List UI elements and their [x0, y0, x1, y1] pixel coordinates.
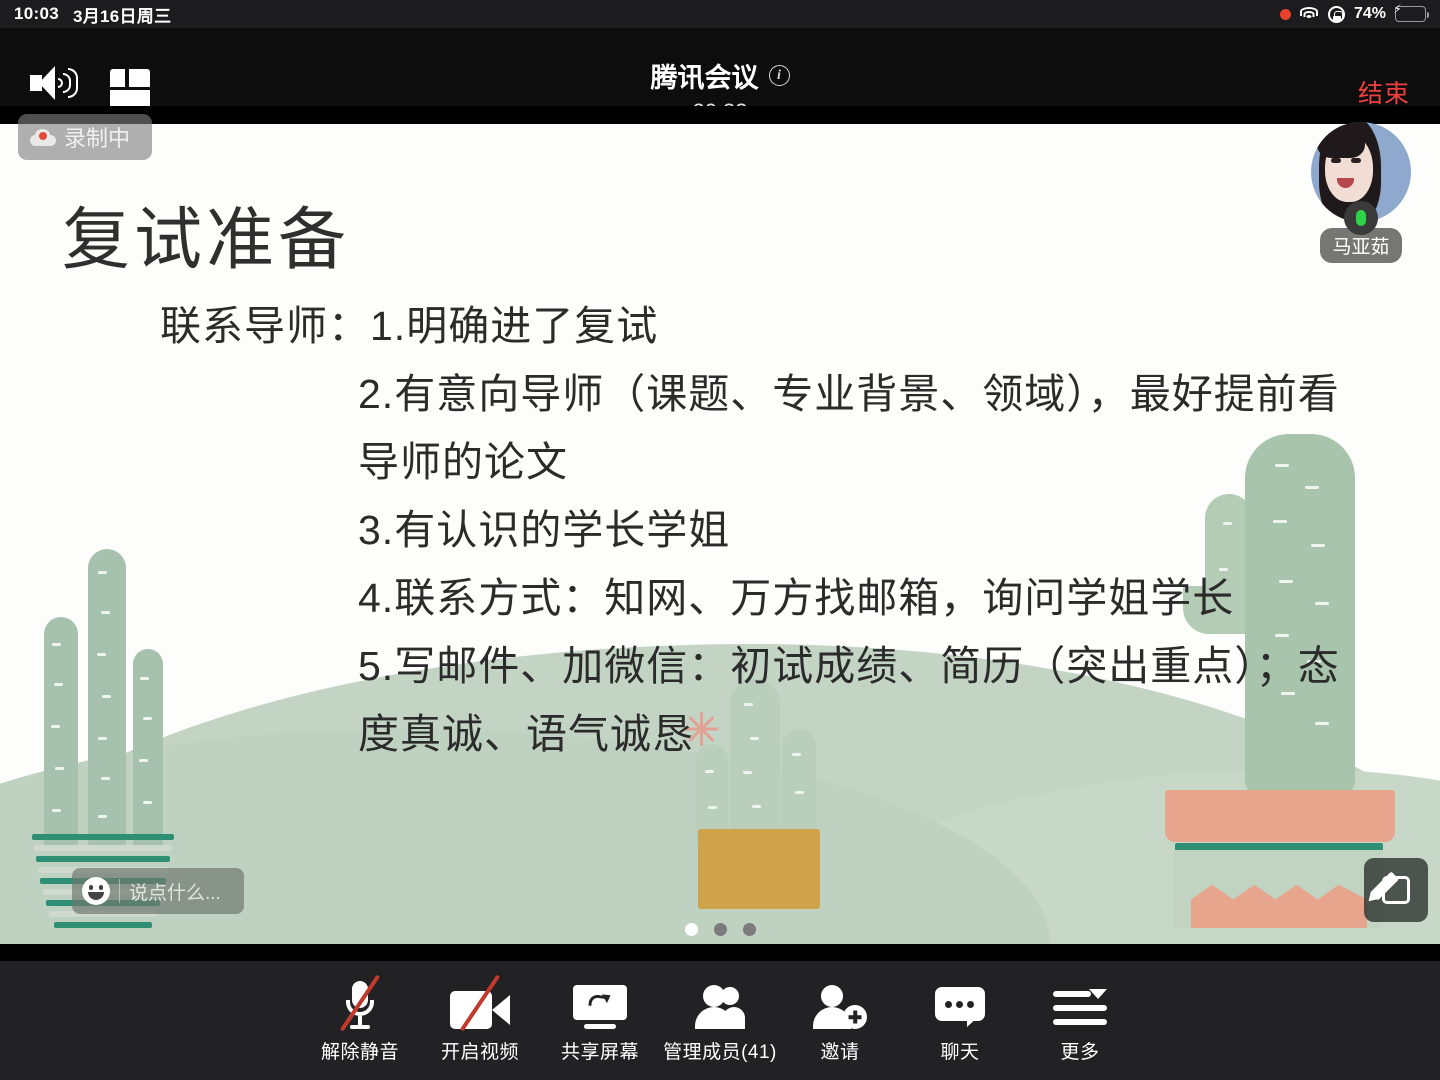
- slide-line: 度真诚、语气诚恳: [160, 700, 1340, 768]
- page-dot[interactable]: [743, 923, 756, 936]
- battery-percent: 74%: [1354, 5, 1386, 23]
- invite-icon: [780, 977, 900, 1029]
- toolbar-item-start-video[interactable]: 开启视频: [420, 977, 540, 1064]
- toolbar-label: 解除静音: [300, 1037, 420, 1064]
- camera-off-icon: [420, 977, 540, 1029]
- recording-badge: 录制中: [18, 114, 152, 160]
- share-screen-icon: [540, 977, 660, 1029]
- emoji-icon[interactable]: [82, 877, 110, 905]
- chat-icon: [900, 977, 1020, 1029]
- chat-input-placeholder[interactable]: 说点什么...: [129, 878, 221, 905]
- recording-dot-icon: [1280, 9, 1291, 20]
- meeting-screen: 10:03 3月16日周三 74% ⚡ 腾讯会议 i: [0, 0, 1440, 1080]
- meeting-title-row: 腾讯会议 i: [651, 56, 790, 95]
- status-bar: 10:03 3月16日周三 74% ⚡: [0, 0, 1440, 28]
- page-dots[interactable]: [0, 923, 1440, 936]
- toolbar-item-chat[interactable]: 聊天: [900, 977, 1020, 1064]
- wifi-icon: [1300, 7, 1319, 22]
- meeting-header: 腾讯会议 i 20:33 结束: [0, 28, 1440, 106]
- toolbar-label: 开启视频: [420, 1037, 540, 1064]
- toolbar-label: 邀请: [780, 1037, 900, 1064]
- slide-title: 复试准备: [62, 184, 350, 283]
- info-icon[interactable]: i: [769, 65, 790, 86]
- divider: [119, 879, 120, 903]
- slide-line: 4.联系方式：知网、万方找邮箱，询问学姐学长: [160, 564, 1340, 632]
- toolbar-label: 管理成员(41): [660, 1037, 780, 1064]
- toolbar-item-share-screen[interactable]: 共享屏幕: [540, 977, 660, 1064]
- status-time: 10:03: [14, 4, 59, 24]
- pot-right: [1165, 790, 1395, 842]
- page-dot[interactable]: [685, 923, 698, 936]
- cloud-record-icon: [30, 129, 56, 146]
- slide-line: 联系导师：1.明确进了复试: [160, 292, 1340, 360]
- shared-slide: 复试准备 联系导师：1.明确进了复试 2.有意向导师（课题、专业背景、领域），最…: [0, 124, 1440, 944]
- microphone-muted-icon: [300, 977, 420, 1029]
- rotation-lock-icon: [1328, 6, 1345, 23]
- toolbar-item-participants[interactable]: 管理成员(41): [660, 977, 780, 1064]
- status-bar-right: 74% ⚡: [1280, 5, 1426, 23]
- page-dot[interactable]: [714, 923, 727, 936]
- page-title: 腾讯会议: [651, 56, 759, 95]
- microphone-on-icon: [1344, 201, 1378, 235]
- slide-line: 2.有意向导师（课题、专业背景、领域），最好提前看: [160, 360, 1340, 428]
- toolbar-item-invite[interactable]: 邀请: [780, 977, 900, 1064]
- toolbar-item-more[interactable]: 更多: [1020, 977, 1140, 1064]
- slide-line: 3.有认识的学长学姐: [160, 496, 1340, 564]
- slide-line: 5.写邮件、加微信：初试成绩、简历（突出重点）；态: [160, 632, 1340, 700]
- toolbar-label: 共享屏幕: [540, 1037, 660, 1064]
- status-date: 3月16日周三: [73, 2, 171, 27]
- recording-label: 录制中: [64, 121, 130, 153]
- shared-screen-stage[interactable]: 复试准备 联系导师：1.明确进了复试 2.有意向导师（课题、专业背景、领域），最…: [0, 106, 1440, 961]
- toolbar-item-unmute[interactable]: 解除静音: [300, 977, 420, 1064]
- slide-line: 导师的论文: [160, 428, 1340, 496]
- battery-charging-icon: ⚡: [1395, 6, 1426, 22]
- toolbar-label: 聊天: [900, 1037, 1020, 1064]
- meeting-toolbar: 解除静音 开启视频 共享屏幕 管理成员(41) 邀请: [0, 961, 1440, 1080]
- participant-thumbnail[interactable]: 马亚茹: [1306, 122, 1416, 263]
- status-bar-left: 10:03 3月16日周三: [14, 2, 171, 27]
- pot-center: [698, 829, 820, 909]
- annotate-button[interactable]: [1364, 858, 1428, 922]
- more-icon: [1020, 977, 1140, 1029]
- participants-icon: [660, 977, 780, 1029]
- annotate-pencil-icon: [1382, 876, 1410, 904]
- chat-input-bar[interactable]: 说点什么...: [72, 868, 244, 914]
- toolbar-label: 更多: [1020, 1037, 1140, 1064]
- end-meeting-button[interactable]: 结束: [1358, 74, 1410, 110]
- slide-body: 联系导师：1.明确进了复试 2.有意向导师（课题、专业背景、领域），最好提前看 …: [160, 292, 1340, 768]
